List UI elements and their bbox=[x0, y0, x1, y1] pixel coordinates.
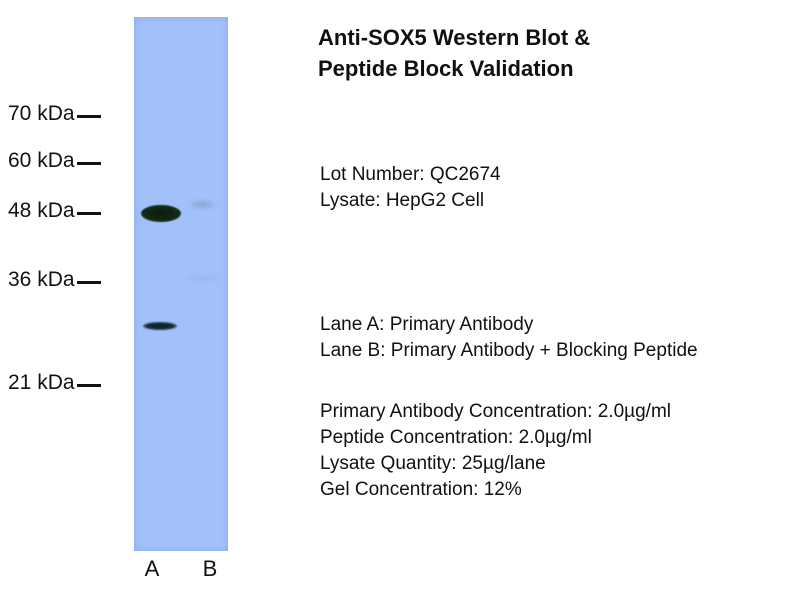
mw-marker-48-tick bbox=[77, 212, 101, 215]
mw-marker-21: 21 kDa bbox=[8, 372, 128, 393]
mw-marker-60-label: 60 kDa bbox=[8, 150, 75, 171]
lane-legend-block: Lane A: Primary Antibody Lane B: Primary… bbox=[320, 312, 698, 364]
parameters-block: Primary Antibody Concentration: 2.0µg/ml… bbox=[320, 399, 671, 503]
band-lane-a-lower bbox=[143, 322, 177, 330]
figure-title: Anti-SOX5 Western Blot & Peptide Block V… bbox=[318, 22, 788, 84]
western-blot-figure: 70 kDa 60 kDa 48 kDa 36 kDa 21 kDa A B A… bbox=[0, 0, 800, 600]
mw-marker-70: 70 kDa bbox=[8, 103, 128, 124]
lane-label-b: B bbox=[197, 557, 223, 581]
mw-marker-21-label: 21 kDa bbox=[8, 372, 75, 393]
lysate-text: Lysate: HepG2 Cell bbox=[320, 188, 501, 214]
mw-marker-70-tick bbox=[77, 115, 101, 118]
mw-marker-48-label: 48 kDa bbox=[8, 200, 75, 221]
gel-concentration-text: Gel Concentration: 12% bbox=[320, 477, 671, 503]
primary-antibody-concentration-text: Primary Antibody Concentration: 2.0µg/ml bbox=[320, 399, 671, 425]
mw-marker-36-tick bbox=[77, 281, 101, 284]
band-lane-b-48kda bbox=[190, 200, 216, 209]
lane-a-legend-text: Lane A: Primary Antibody bbox=[320, 312, 698, 338]
mw-marker-48: 48 kDa bbox=[8, 200, 128, 221]
blot-membrane bbox=[134, 17, 228, 551]
mw-marker-60-tick bbox=[77, 162, 101, 165]
band-lane-a-48kda bbox=[141, 205, 181, 222]
sample-info-block: Lot Number: QC2674 Lysate: HepG2 Cell bbox=[320, 162, 501, 214]
peptide-concentration-text: Peptide Concentration: 2.0µg/ml bbox=[320, 425, 671, 451]
lane-label-a: A bbox=[139, 557, 165, 581]
band-lane-b-smear bbox=[186, 275, 220, 281]
lot-number-text: Lot Number: QC2674 bbox=[320, 162, 501, 188]
mw-marker-36-label: 36 kDa bbox=[8, 269, 75, 290]
mw-marker-70-label: 70 kDa bbox=[8, 103, 75, 124]
figure-title-line-1: Anti-SOX5 Western Blot & bbox=[318, 22, 788, 53]
lane-b-legend-text: Lane B: Primary Antibody + Blocking Pept… bbox=[320, 338, 698, 364]
mw-marker-21-tick bbox=[77, 384, 101, 387]
lysate-quantity-text: Lysate Quantity: 25µg/lane bbox=[320, 451, 671, 477]
mw-marker-60: 60 kDa bbox=[8, 150, 128, 171]
mw-marker-36: 36 kDa bbox=[8, 269, 128, 290]
figure-title-line-2: Peptide Block Validation bbox=[318, 53, 788, 84]
